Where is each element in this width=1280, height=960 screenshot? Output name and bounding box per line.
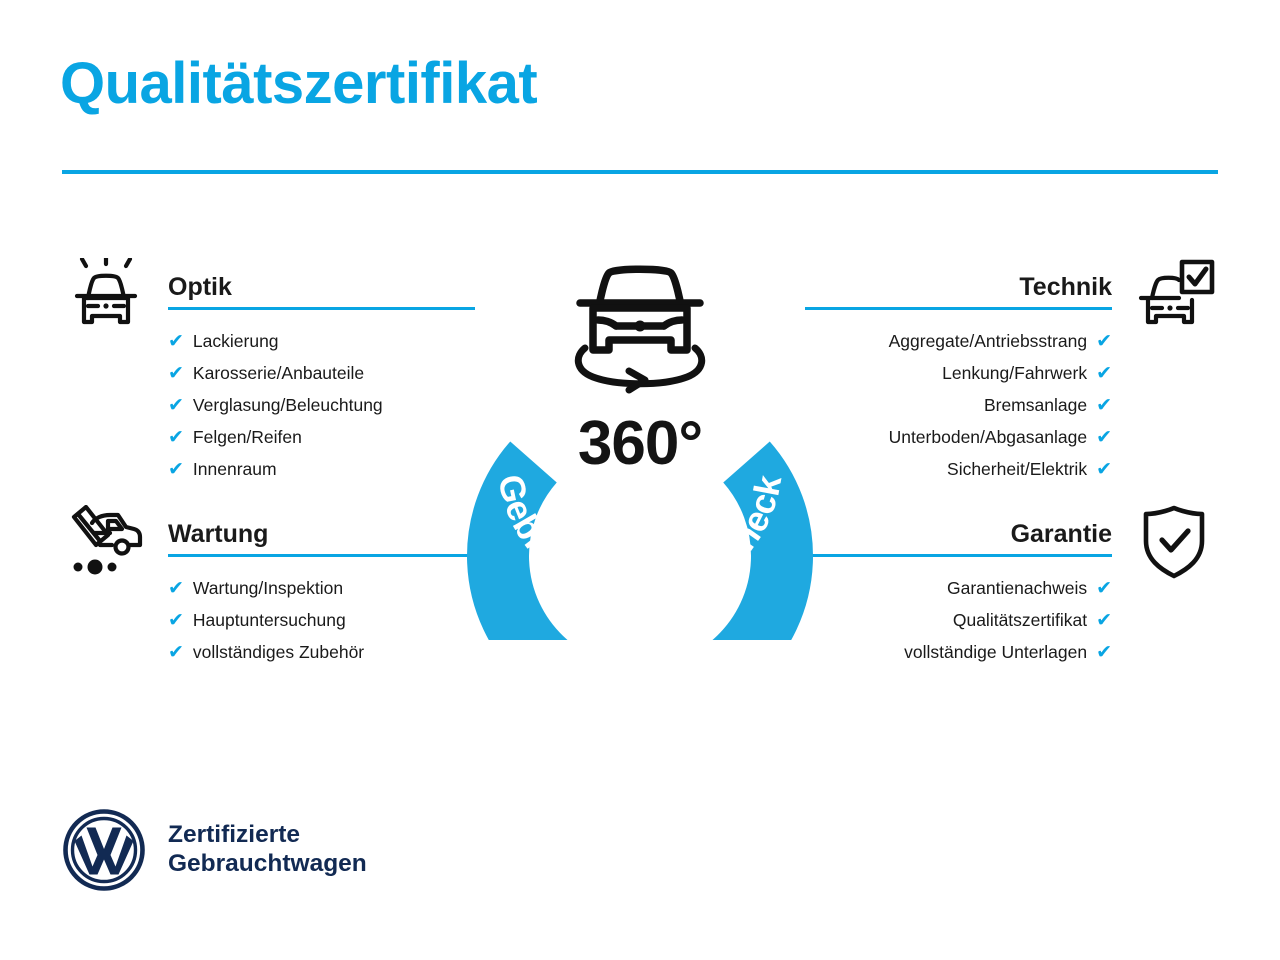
vw-logo — [62, 808, 146, 892]
check-icon: ✔ — [1096, 332, 1112, 351]
section-divider — [805, 554, 1112, 557]
list-item: ✔vollständiges Zubehör — [60, 643, 520, 662]
list-item-label: Aggregate/Antriebsstrang — [889, 333, 1087, 351]
section-optik: Optik ✔Lackierung ✔Karosserie/Anbauteile… — [60, 258, 520, 492]
list-item: Aggregate/Antriebsstrang✔ — [760, 332, 1220, 351]
section-title: Technik — [1019, 275, 1112, 300]
list-item: Qualitätszertifikat✔ — [760, 611, 1220, 630]
list-item-label: Felgen/Reifen — [193, 429, 302, 447]
page-title: Qualitätszertifikat — [60, 54, 537, 115]
section-title: Wartung — [168, 522, 268, 547]
check-icon: ✔ — [168, 332, 184, 351]
footer-brand: Zertifizierte Gebrauchtwagen — [62, 808, 367, 892]
footer-line-1: Zertifizierte — [168, 821, 367, 850]
list-item: ✔Lackierung — [60, 332, 520, 351]
title-divider — [62, 170, 1218, 174]
list-item: ✔Verglasung/Beleuchtung — [60, 396, 520, 415]
footer-line-2: Gebrauchtwagen — [168, 850, 367, 879]
check-icon: ✔ — [1096, 611, 1112, 630]
check-icon: ✔ — [1096, 579, 1112, 598]
section-divider — [805, 307, 1112, 310]
badge-center-label: 360° — [455, 413, 825, 475]
list-item: Garantienachweis✔ — [760, 579, 1220, 598]
section-garantie: Garantie Garantienachweis✔ Qualitätszert… — [760, 505, 1220, 675]
list-item-label: Lenkung/Fahrwerk — [942, 365, 1087, 383]
check-icon: ✔ — [1096, 460, 1112, 479]
check-icon: ✔ — [1096, 643, 1112, 662]
list-item: Sicherheit/Elektrik✔ — [760, 460, 1220, 479]
checklist-garantie: Garantienachweis✔ Qualitätszertifikat✔ v… — [760, 579, 1220, 662]
check-icon: ✔ — [1096, 428, 1112, 447]
list-item-label: Verglasung/Beleuchtung — [193, 397, 383, 415]
section-wartung: Wartung ✔Wartung/Inspektion ✔Hauptunters… — [60, 505, 520, 675]
section-header-optik: Optik — [60, 258, 520, 320]
check-icon: ✔ — [1096, 364, 1112, 383]
list-item-label: vollständige Unterlagen — [904, 644, 1087, 662]
list-item-label: Bremsanlage — [984, 397, 1087, 415]
check-icon: ✔ — [168, 460, 184, 479]
list-item: Bremsanlage✔ — [760, 396, 1220, 415]
list-item-label: Sicherheit/Elektrik — [947, 461, 1087, 479]
list-item-label: vollständiges Zubehör — [193, 644, 364, 662]
check-icon: ✔ — [168, 364, 184, 383]
gebrauchtwagen-check-badge: Gebrauchtwagen-Check 360° — [455, 250, 825, 640]
list-item: ✔Karosserie/Anbauteile — [60, 364, 520, 383]
section-divider — [168, 307, 475, 310]
list-item: ✔Felgen/Reifen — [60, 428, 520, 447]
check-icon: ✔ — [168, 428, 184, 447]
list-item: ✔Innenraum — [60, 460, 520, 479]
list-item: Unterboden/Abgasanlage✔ — [760, 428, 1220, 447]
check-icon: ✔ — [168, 643, 184, 662]
car-rotate-icon — [578, 269, 701, 390]
checklist-optik: ✔Lackierung ✔Karosserie/Anbauteile ✔Verg… — [60, 332, 520, 479]
section-header-wartung: Wartung — [60, 505, 520, 567]
section-title: Garantie — [1011, 522, 1112, 547]
list-item-label: Wartung/Inspektion — [193, 580, 343, 598]
footer-text: Zertifizierte Gebrauchtwagen — [168, 821, 367, 879]
list-item-label: Karosserie/Anbauteile — [193, 365, 364, 383]
list-item-label: Innenraum — [193, 461, 277, 479]
list-item-label: Hauptuntersuchung — [193, 612, 346, 630]
section-divider — [168, 554, 475, 557]
checklist-technik: Aggregate/Antriebsstrang✔ Lenkung/Fahrwe… — [760, 332, 1220, 479]
list-item-label: Lackierung — [193, 333, 279, 351]
list-item: ✔Hauptuntersuchung — [60, 611, 520, 630]
check-icon: ✔ — [168, 611, 184, 630]
list-item: ✔Wartung/Inspektion — [60, 579, 520, 598]
section-title: Optik — [168, 275, 232, 300]
list-item: vollständige Unterlagen✔ — [760, 643, 1220, 662]
list-item-label: Qualitätszertifikat — [953, 612, 1087, 630]
list-item: Lenkung/Fahrwerk✔ — [760, 364, 1220, 383]
list-item-label: Unterboden/Abgasanlage — [889, 429, 1088, 447]
check-icon: ✔ — [1096, 396, 1112, 415]
check-icon: ✔ — [168, 579, 184, 598]
list-item-label: Garantienachweis — [947, 580, 1087, 598]
checklist-wartung: ✔Wartung/Inspektion ✔Hauptuntersuchung ✔… — [60, 579, 520, 662]
section-technik: Technik Aggregate/Antriebsstrang✔ Lenkun… — [760, 258, 1220, 492]
section-header-garantie: Garantie — [760, 505, 1220, 567]
check-icon: ✔ — [168, 396, 184, 415]
section-header-technik: Technik — [760, 258, 1220, 320]
